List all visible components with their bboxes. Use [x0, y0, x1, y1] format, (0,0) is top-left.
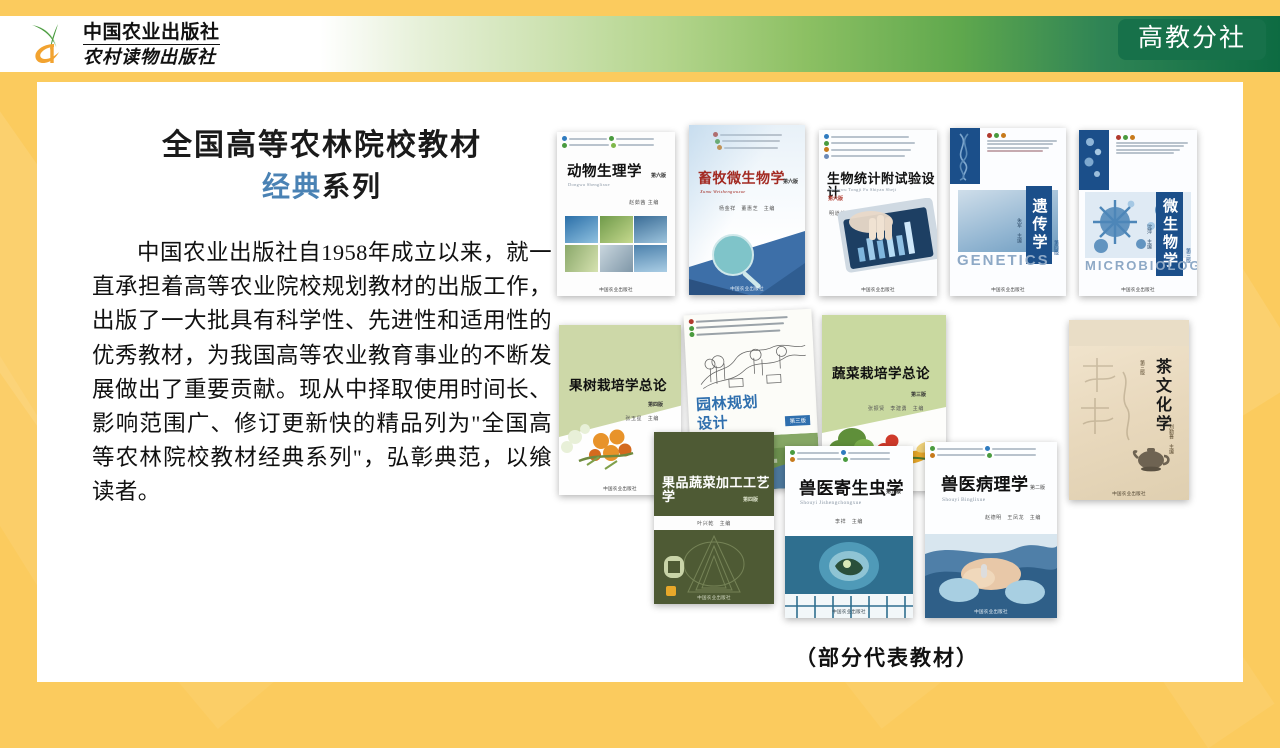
logo-line-2: 农村读物出版社: [83, 48, 220, 66]
qr-badge-icon: [664, 556, 684, 578]
book-title: 动物生理学: [567, 165, 642, 180]
body-paragraph: 中国农业出版社自1958年成立以来，就一直承担着高等农业院校规划教材的出版工作，…: [92, 236, 552, 510]
book-title: 兽医病理学: [941, 476, 1029, 494]
book-edition: 第三版: [911, 391, 926, 398]
book-cover-chawenhuaxue: 茶文化学 第三版 刘勤晋 主编 中国农业出版社: [1069, 320, 1189, 500]
book-badges: [982, 128, 1066, 154]
book-badges: [785, 446, 913, 464]
logo-line-1: 中国农业出版社: [83, 23, 220, 45]
book-latin-title: MICROBIOLOGY: [1085, 258, 1197, 273]
book-cover-yichuanxue: 遗传学 第四版 朱军 主编 GENETICS 中国农业出版社: [950, 128, 1066, 296]
book-cover-xumu-weishengwuxue: 畜牧微生物学 第六版 Xumu Weishengwuxue 杨金祥 董惠芝 主编…: [689, 125, 805, 295]
book-title: 果树栽培学总论: [569, 379, 667, 393]
book-cover-collage: 动物生理学 第六版 Dongwu Shenglixue 赵茹茜 主编 中国农业出…: [557, 120, 1217, 640]
book-edition: 第三版: [1138, 360, 1145, 375]
cover-art-landscape-sketch: [695, 333, 810, 395]
book-badges: [925, 442, 1057, 460]
book-author: 张振贤 李建勇 主编: [868, 405, 924, 412]
book-cover-shouyi-jishengchongxue: 兽医寄生虫学 第五版 Shouyi Jishengchongxue 李祥 主编 …: [785, 446, 913, 618]
book-pinyin: Shouyi Binglixue: [942, 497, 985, 503]
book-cover-shouyi-binglixue: 兽医病理学 Shouyi Binglixue 赵德明 王凤龙 主编 第二版 中国…: [925, 442, 1057, 618]
book-title: 蔬菜栽培学总论: [832, 367, 930, 381]
book-publisher: 中国农业出版社: [557, 287, 675, 293]
book-edition: 第三版: [785, 415, 810, 426]
subtitle-highlight: 经典: [262, 172, 322, 203]
page-title: 全国高等农林院校教材: [92, 127, 552, 165]
text-column: 全国高等农林院校教材 经典系列 中国农业出版社自1958年成立以来，就一直承担着…: [92, 127, 552, 510]
book-pinyin: Shengwu Tongji Fu Shiyan Sheji: [828, 187, 896, 192]
book-cover-dongwu-shenglixue: 动物生理学 第六版 Dongwu Shenglixue 赵茹茜 主编 中国农业出…: [557, 132, 675, 296]
book-cover-shengwu-tongji: 生物统计附试验设计 Shengwu Tongji Fu Shiyan Sheji…: [819, 130, 937, 296]
dna-helix-icon: [952, 132, 978, 182]
book-cover-guopin-shucai-jiagong: 果品蔬菜加工工艺学 第四版 叶兴乾 主编 中国农业出版社: [654, 432, 774, 604]
cover-art-tablet-chart: [819, 198, 937, 284]
book-edition: 第二版: [1030, 484, 1045, 491]
microbe-dots-icon: [1083, 136, 1105, 184]
book-publisher: 中国农业出版社: [1079, 287, 1197, 293]
cover-art-veterinary-hands: [925, 534, 1057, 618]
book-author: 杨金祥 董惠芝 主编: [689, 205, 805, 212]
book-latin-title: GENETICS: [957, 252, 1050, 269]
book-publisher: 中国农业出版社: [785, 609, 913, 615]
book-pinyin: Shouyi Jishengchongxue: [800, 500, 861, 506]
book-author: 沈萍 主编: [1145, 224, 1152, 249]
book-author: 叶兴乾 主编: [654, 520, 774, 527]
book-publisher: 中国农业出版社: [1069, 491, 1189, 497]
cover-art-parasite: [785, 536, 913, 618]
collage-caption: （部分代表教材）: [557, 642, 1217, 672]
book-author: 赵茹茜 主编: [629, 199, 659, 206]
book-edition: 第六版: [783, 178, 798, 185]
book-badges: [819, 130, 937, 161]
book-badges: [1111, 130, 1197, 156]
book-edition: 第六版: [651, 172, 666, 179]
book-publisher: 中国农业出版社: [950, 287, 1066, 293]
book-title: 遗传学: [1029, 198, 1050, 252]
book-pinyin: Dongwu Shenglixue: [568, 182, 610, 187]
book-title: 园林规划设计: [696, 393, 768, 434]
cover-art-pattern: [654, 530, 774, 604]
book-title: 茶文化学: [1152, 358, 1169, 434]
title-block: 全国高等农林院校教材 经典系列: [92, 127, 552, 204]
book-author: 李祥 主编: [785, 518, 913, 525]
book-publisher: 中国农业出版社: [819, 287, 937, 293]
book-badges: [557, 132, 675, 150]
book-edition: 第四版: [648, 401, 663, 408]
book-pinyin: Xumu Weishengwuxue: [700, 189, 746, 194]
book-edition: 第五版: [886, 488, 901, 495]
book-cover-weishengwuxue: 微生物学 第三版 沈萍 主编 MICROBIOLOGY 中国农业出版社: [1079, 130, 1197, 296]
page-subtitle: 经典系列: [92, 171, 552, 205]
division-badge: 高教分社: [1118, 19, 1266, 60]
subtitle-rest: 系列: [322, 172, 382, 203]
teapot-icon: [1131, 440, 1171, 472]
slide-card: 全国高等农林院校教材 经典系列 中国农业出版社自1958年成立以来，就一直承担着…: [37, 82, 1243, 682]
book-title: 生物统计附试验设计: [827, 172, 937, 199]
book-publisher: 中国农业出版社: [654, 595, 774, 601]
book-publisher: 中国农业出版社: [689, 286, 805, 292]
cover-art-calligraphy: [1073, 352, 1147, 452]
book-edition: 第四版: [743, 496, 758, 503]
book-author: 朱军 主编: [1015, 218, 1022, 243]
book-author: 赵德明 王凤龙 主编: [985, 514, 1041, 521]
cover-photo-collage: [565, 216, 667, 272]
publisher-logo: 中国农业出版社 农村读物出版社: [28, 20, 220, 68]
cover-art-magnifier: [689, 217, 805, 295]
book-edition: 第四版: [1052, 240, 1059, 255]
book-publisher: 中国农业出版社: [925, 609, 1057, 615]
book-title: 畜牧微生物学: [698, 173, 785, 188]
sprout-leaf-logo-icon: [28, 22, 74, 66]
